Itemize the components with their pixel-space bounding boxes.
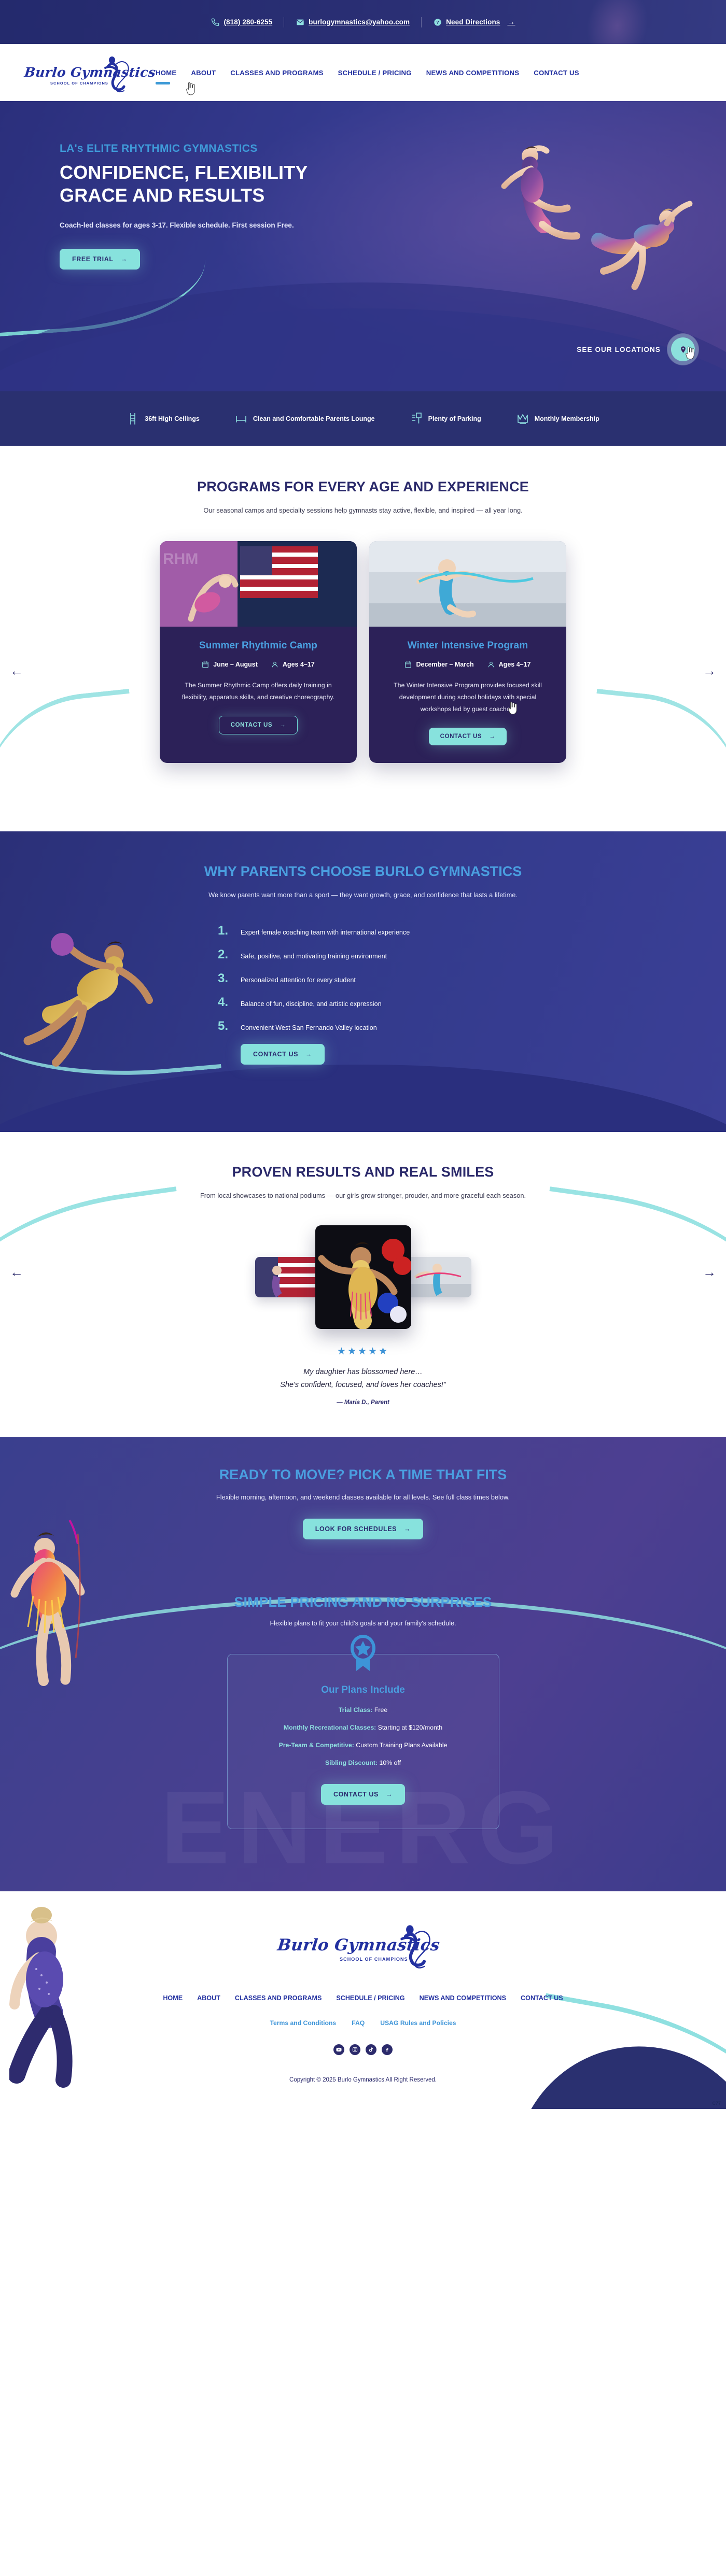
programs-subtitle: Our seasonal camps and specialty session… — [0, 506, 726, 514]
instagram-icon[interactable] — [350, 2044, 360, 2055]
phone-number: (818) 280-6255 — [224, 18, 272, 26]
pricing-subtitle: Flexible plans to fit your child's goals… — [0, 1620, 726, 1627]
why-item-text: Convenient West San Fernando Valley loca… — [241, 1022, 377, 1031]
pricing-title: SIMPLE PRICING AND NO SURPRISES — [0, 1594, 726, 1610]
plan-line-value: 10% off — [378, 1759, 401, 1766]
why-item-number: 2. — [218, 949, 231, 961]
feature-label: Plenty of Parking — [428, 415, 481, 422]
plan-line-label: Trial Class: — [339, 1706, 373, 1714]
site-footer: Burlo Gymnastics SCHOOL OF CHAMPIONS HOM… — [0, 1891, 726, 2109]
see-locations-button[interactable] — [671, 337, 695, 361]
footer-nav-item-contact-us[interactable]: CONTACT US — [521, 1994, 563, 2002]
results-prev-button[interactable]: ← — [6, 1262, 27, 1282]
why-body: 1. Expert female coaching team with inte… — [0, 921, 726, 1092]
ribbon-star-icon — [350, 1635, 376, 1675]
footer-logo[interactable]: Burlo Gymnastics SCHOOL OF CHAMPIONS — [272, 1921, 454, 1973]
why-list-item: 4. Balance of fun, discipline, and artis… — [218, 996, 410, 1009]
nav-item-about[interactable]: ABOUT — [191, 66, 216, 80]
why-gymnast-image — [0, 921, 218, 1092]
nav-links: HOME ABOUT CLASSES AND PROGRAMS SCHEDULE… — [156, 66, 579, 80]
parking-meter-icon — [410, 412, 423, 426]
program-description: The Summer Rhythmic Camp offers daily tr… — [175, 680, 341, 703]
footer-link-usag-rules[interactable]: USAG Rules and Policies — [380, 2019, 456, 2027]
nav-item-classes-and-programs[interactable]: CLASSES AND PROGRAMS — [230, 66, 323, 80]
program-ages: Ages 4–17 — [271, 661, 315, 668]
why-item-text: Balance of fun, discipline, and artistic… — [241, 998, 382, 1008]
footer-legal-links: Terms and Conditions FAQ USAG Rules and … — [0, 2019, 726, 2027]
program-meta: June – August Ages 4–17 — [175, 661, 341, 668]
testimonial-line-2: She's confident, focused, and loves her … — [0, 1379, 726, 1392]
cta-title: READY TO MOVE? PICK A TIME THAT FITS — [0, 1467, 726, 1483]
tiktok-icon[interactable] — [366, 2044, 376, 2055]
why-title: WHY PARENTS CHOOSE BURLO GYMNASTICS — [0, 864, 726, 880]
footer-nav-item-news-and-competitions[interactable]: NEWS AND COMPETITIONS — [420, 1994, 506, 2002]
plan-line-label: Sibling Discount: — [325, 1759, 378, 1766]
directions-link[interactable]: ? Need Directions → — [422, 18, 526, 26]
why-list-item: 2. Safe, positive, and motivating traini… — [218, 949, 410, 961]
brand-logo[interactable]: Burlo Gymnastics SCHOOL OF CHAMPIONS — [23, 52, 145, 93]
feature-monthly-membership: Monthly Membership — [499, 412, 617, 426]
mouse-cursor-icon — [185, 81, 197, 96]
plan-cta-wrap: CONTACT US → — [243, 1784, 483, 1805]
why-item-number: 1. — [218, 925, 231, 937]
feature-label: 36ft High Ceilings — [145, 415, 200, 422]
program-description: The Winter Intensive Program provides fo… — [385, 680, 551, 715]
program-dates: June – August — [202, 661, 258, 668]
social-links — [0, 2044, 726, 2055]
plan-line: Trial Class: Free — [243, 1706, 483, 1714]
calendar-icon — [404, 661, 412, 668]
footer-content: Burlo Gymnastics SCHOOL OF CHAMPIONS HOM… — [0, 1921, 726, 2083]
nav-item-contact-us[interactable]: CONTACT US — [534, 66, 579, 80]
programs-section: PROGRAMS FOR EVERY AGE AND EXPERIENCE Ou… — [0, 446, 726, 831]
why-item-number: 5. — [218, 1020, 231, 1032]
free-trial-label: FREE TRIAL — [72, 256, 114, 263]
corner-mark: C77 — [712, 2101, 721, 2106]
program-title: Winter Intensive Program — [385, 640, 551, 652]
why-contact-label: CONTACT US — [253, 1051, 298, 1058]
why-item-text: Expert female coaching team with interna… — [241, 927, 410, 936]
phone-icon — [211, 18, 219, 26]
features-strip: 36ft High Ceilings Clean and Comfortable… — [0, 391, 726, 446]
feature-parking: Plenty of Parking — [393, 412, 499, 426]
hero-title-line-2: GRACE AND RESULTS — [60, 184, 392, 207]
logo-wordmark: Burlo Gymnastics — [23, 65, 156, 80]
plan-line-value: Custom Training Plans Available — [354, 1742, 448, 1749]
facebook-icon[interactable] — [382, 2044, 393, 2055]
results-gallery: ← → — [0, 1220, 726, 1334]
testimonial-quote: My daughter has blossomed here… She's co… — [0, 1366, 726, 1391]
programs-next-button[interactable]: → — [699, 660, 720, 681]
program-card-image: RHM — [160, 541, 357, 627]
program-contact-button[interactable]: CONTACT US → — [219, 716, 298, 734]
person-icon — [271, 661, 278, 668]
testimonial-line-1: My daughter has blossomed here… — [0, 1366, 726, 1379]
plan-line-value: Free — [372, 1706, 387, 1714]
rating-stars: ★★★★★ — [0, 1346, 726, 1357]
program-contact-label: CONTACT US — [231, 722, 273, 728]
landing-page: (818) 280-6255 burlogymnastics@yahoo.com… — [0, 0, 726, 2109]
pricing-block: SIMPLE PRICING AND NO SURPRISES Flexible… — [0, 1539, 726, 1891]
results-title: PROVEN RESULTS AND REAL SMILES — [0, 1164, 726, 1180]
cta-pricing-section: ENERG READY TO MOVE? PICK A TIME THAT FI… — [0, 1437, 726, 1891]
why-list-item: 5. Convenient West San Fernando Valley l… — [218, 1020, 410, 1032]
hero-title: CONFIDENCE, FLEXIBILITY GRACE AND RESULT… — [60, 161, 392, 207]
programs-carousel: ← → RHM — [0, 541, 726, 795]
email-link[interactable]: burlogymnastics@yahoo.com — [284, 18, 421, 26]
results-thumb-main[interactable] — [315, 1225, 411, 1329]
why-subtitle: We know parents want more than a sport —… — [0, 891, 726, 899]
program-card-summer[interactable]: RHM — [160, 541, 357, 763]
hero-section: LA's ELITE RHYTHMIC GYMNASTICS CONFIDENC… — [0, 101, 726, 391]
program-title: Summer Rhythmic Camp — [175, 640, 341, 652]
program-contact-button[interactable]: CONTACT US → — [429, 728, 507, 745]
results-next-button[interactable]: → — [699, 1262, 720, 1282]
pricing-contact-button[interactable]: CONTACT US → — [321, 1784, 405, 1805]
plan-line: Pre-Team & Competitive: Custom Training … — [243, 1742, 483, 1749]
top-contact-bar: (818) 280-6255 burlogymnastics@yahoo.com… — [0, 0, 726, 44]
program-ages-label: Ages 4–17 — [499, 661, 531, 668]
footer-nav-item-about[interactable]: ABOUT — [197, 1994, 220, 2002]
why-item-text: Safe, positive, and motivating training … — [241, 951, 387, 960]
nav-item-news-and-competitions[interactable]: NEWS AND COMPETITIONS — [426, 66, 520, 80]
cta-subtitle: Flexible morning, afternoon, and weekend… — [0, 1493, 726, 1501]
program-card-image — [369, 541, 566, 627]
hero-kicker: LA's ELITE RHYTHMIC GYMNASTICS — [60, 143, 726, 155]
feature-parents-lounge: Clean and Comfortable Parents Lounge — [217, 412, 393, 426]
programs-header: PROGRAMS FOR EVERY AGE AND EXPERIENCE Ou… — [0, 446, 726, 514]
phone-link[interactable]: (818) 280-6255 — [199, 18, 284, 26]
look-for-schedules-label: LOOK FOR SCHEDULES — [315, 1525, 397, 1533]
arrow-right-icon: → — [280, 722, 286, 728]
logo-tagline: SCHOOL OF CHAMPIONS — [50, 81, 108, 86]
program-meta: December – March Ages 4–17 — [385, 661, 551, 668]
gymnast-swoosh-icon — [101, 53, 131, 95]
program-card-body: Summer Rhythmic Camp June – August Ages … — [160, 627, 357, 752]
see-locations-group[interactable]: SEE OUR LOCATIONS — [577, 337, 695, 361]
feature-high-ceilings: 36ft High Ceilings — [109, 412, 217, 426]
nav-item-schedule-pricing[interactable]: SCHEDULE / PRICING — [338, 66, 412, 80]
ladder-icon — [127, 412, 139, 426]
results-thumb-left[interactable] — [255, 1257, 323, 1297]
program-dates-label: June – August — [213, 661, 258, 668]
free-trial-button[interactable]: FREE TRIAL → — [60, 249, 140, 270]
directions-label: Need Directions — [446, 18, 500, 26]
why-contact-button[interactable]: CONTACT US → — [241, 1044, 325, 1065]
program-card-body: Winter Intensive Program December – Marc… — [369, 627, 566, 763]
arrow-right-icon: → — [489, 733, 495, 740]
why-list-item: 1. Expert female coaching team with inte… — [218, 925, 410, 937]
arrow-right-icon: → — [121, 256, 128, 263]
hero-subtitle: Coach-led classes for ages 3-17. Flexibl… — [60, 221, 726, 229]
why-cta-wrap: CONTACT US → — [241, 1044, 410, 1065]
plan-title: Our Plans Include — [243, 1685, 483, 1696]
results-header: PROVEN RESULTS AND REAL SMILES From loca… — [0, 1164, 726, 1199]
why-item-text: Personalized attention for every student — [241, 974, 356, 984]
topbar-decoration — [578, 0, 657, 44]
hero-title-line-1: CONFIDENCE, FLEXIBILITY — [60, 161, 392, 184]
svg-text:RHM: RHM — [163, 550, 198, 568]
person-icon — [487, 661, 495, 668]
sofa-icon — [235, 412, 247, 426]
arrow-right-icon: → — [507, 18, 515, 26]
copyright-text: Copyright © 2025 Burlo Gymnastics All Ri… — [0, 2077, 726, 2083]
mouse-cursor-icon — [507, 701, 519, 715]
why-list-item: 3. Personalized attention for every stud… — [218, 972, 410, 985]
look-for-schedules-button[interactable]: LOOK FOR SCHEDULES → — [303, 1519, 423, 1539]
programs-prev-button[interactable]: ← — [6, 660, 27, 681]
footer-nav-item-home[interactable]: HOME — [163, 1994, 183, 2002]
pricing-spacer — [0, 1829, 726, 1891]
feature-label: Clean and Comfortable Parents Lounge — [253, 415, 375, 422]
program-ages-label: Ages 4–17 — [283, 661, 315, 668]
program-contact-label: CONTACT US — [440, 733, 482, 740]
nav-item-home[interactable]: HOME — [156, 66, 176, 80]
why-right: 1. Expert female coaching team with inte… — [218, 921, 410, 1092]
footer-link-terms[interactable]: Terms and Conditions — [270, 2019, 336, 2027]
arrow-right-icon: → — [386, 1791, 393, 1798]
footer-nav-item-classes-and-programs[interactable]: CLASSES AND PROGRAMS — [235, 1994, 322, 2002]
svg-text:?: ? — [436, 20, 439, 25]
results-thumb-right[interactable] — [404, 1257, 471, 1297]
mail-icon — [296, 18, 304, 26]
plan-line-label: Pre-Team & Competitive: — [279, 1742, 354, 1749]
why-item-number: 4. — [218, 996, 231, 1009]
program-dates-label: December – March — [416, 661, 473, 668]
plan-line-value: Starting at $120/month — [376, 1724, 442, 1731]
mouse-cursor-icon — [685, 346, 696, 360]
youtube-icon[interactable] — [333, 2044, 344, 2055]
plan-line: Sibling Discount: 10% off — [243, 1759, 483, 1766]
testimonial-author: — Maria D., Parent — [0, 1399, 726, 1406]
arrow-right-icon: → — [404, 1525, 411, 1533]
footer-nav-item-schedule-pricing[interactable]: SCHEDULE / PRICING — [336, 1994, 404, 2002]
pricing-contact-label: CONTACT US — [333, 1791, 379, 1798]
see-locations-label: SEE OUR LOCATIONS — [577, 346, 661, 353]
hero-content: LA's ELITE RHYTHMIC GYMNASTICS CONFIDENC… — [0, 101, 726, 270]
results-section: PROVEN RESULTS AND REAL SMILES From loca… — [0, 1132, 726, 1437]
plan-card: Our Plans Include Trial Class: Free Mont… — [227, 1654, 499, 1829]
plan-line-label: Monthly Recreational Classes: — [284, 1724, 376, 1731]
feature-label: Monthly Membership — [535, 415, 599, 422]
programs-title: PROGRAMS FOR EVERY AGE AND EXPERIENCE — [0, 479, 726, 495]
calendar-icon — [202, 661, 209, 668]
why-item-number: 3. — [218, 972, 231, 985]
footer-navigation: HOME ABOUT CLASSES AND PROGRAMS SCHEDULE… — [0, 1994, 726, 2002]
email-address: burlogymnastics@yahoo.com — [309, 18, 410, 26]
crown-icon — [516, 412, 529, 426]
program-card-winter[interactable]: Winter Intensive Program December – Marc… — [369, 541, 566, 763]
question-mark-icon: ? — [433, 18, 442, 26]
main-navigation: Burlo Gymnastics SCHOOL OF CHAMPIONS HOM… — [0, 44, 726, 101]
why-parents-section: WHY PARENTS CHOOSE BURLO GYMNASTICS We k… — [0, 831, 726, 1132]
program-dates: December – March — [404, 661, 473, 668]
program-ages: Ages 4–17 — [487, 661, 531, 668]
arrow-right-icon: → — [305, 1051, 312, 1058]
gymnast-swoosh-icon — [397, 1921, 433, 1972]
hero-cta-wrap: FREE TRIAL → — [60, 249, 726, 270]
results-subtitle: From local showcases to national podiums… — [0, 1192, 726, 1199]
why-list: 1. Expert female coaching team with inte… — [218, 925, 410, 1032]
footer-link-faq[interactable]: FAQ — [352, 2019, 365, 2027]
plan-line: Monthly Recreational Classes: Starting a… — [243, 1724, 483, 1731]
logo-wrap: Burlo Gymnastics SCHOOL OF CHAMPIONS — [23, 52, 132, 93]
